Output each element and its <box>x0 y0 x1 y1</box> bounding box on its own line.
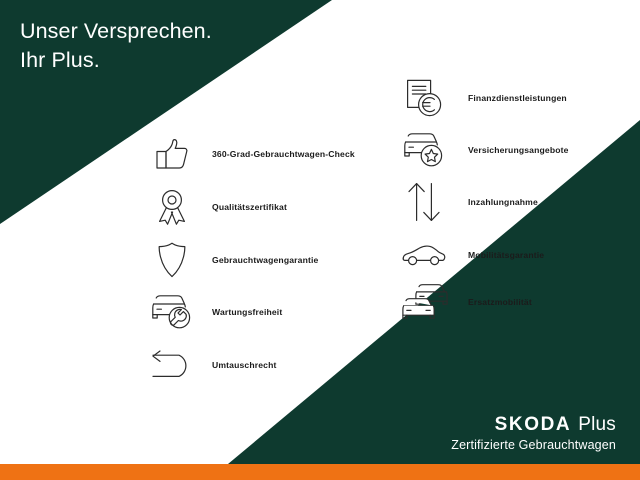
feature-label: Ersatzmobilität <box>468 297 532 307</box>
feature-label: Umtauschrecht <box>212 360 277 370</box>
feature-label: Inzahlungnahme <box>468 197 538 207</box>
feature-label: Qualitätszertifikat <box>212 202 287 212</box>
document-euro-icon <box>398 72 450 124</box>
brand-name-row: SKODA Plus <box>451 415 616 434</box>
two-cars-icon <box>398 276 450 328</box>
feature-item-versicherungsangebote: Versicherungsangebote <box>398 124 569 176</box>
promo-slide: Unser Versprechen. Ihr Plus. 360-Grad-Ge… <box>0 0 640 480</box>
feature-label: Gebrauchtwagengarantie <box>212 255 318 265</box>
award-rosette-icon <box>146 181 198 233</box>
feature-label: Mobilitätsgarantie <box>468 250 544 260</box>
feature-item-gebrauchtwagengarantie: Gebrauchtwagengarantie <box>146 234 318 286</box>
brand-tagline: Zertifizierte Gebrauchtwagen <box>451 438 616 452</box>
shield-icon <box>146 234 198 286</box>
brand-lockup: SKODA Plus Zertifizierte Gebrauchtwagen <box>451 415 616 452</box>
feature-item-360-grad-check: 360-Grad-Gebrauchtwagen-Check <box>146 128 355 180</box>
orange-footer-bar <box>0 464 640 480</box>
feature-item-inzahlungnahme: Inzahlungnahme <box>398 176 538 228</box>
car-wrench-icon <box>146 286 198 338</box>
feature-label: Finanzdienstleistungen <box>468 93 567 103</box>
feature-label: Versicherungsangebote <box>468 145 569 155</box>
feature-label: Wartungsfreiheit <box>212 307 282 317</box>
car-side-icon <box>398 229 450 281</box>
feature-item-ersatzmobilitaet: Ersatzmobilität <box>398 276 532 328</box>
feature-item-umtauschrecht: Umtauschrecht <box>146 339 277 391</box>
feature-item-qualitaetszertifikat: Qualitätszertifikat <box>146 181 287 233</box>
headline-line-2: Ihr Plus. <box>20 46 340 75</box>
page-title: Unser Versprechen. Ihr Plus. <box>20 17 340 75</box>
thumbs-up-icon <box>146 128 198 180</box>
headline-line-1: Unser Versprechen. <box>20 17 340 46</box>
feature-item-mobilitaetsgarantie: Mobilitätsgarantie <box>398 229 544 281</box>
car-star-icon <box>398 124 450 176</box>
feature-item-finanzdienstleistungen: Finanzdienstleistungen <box>398 72 567 124</box>
brand-plus-label: Plus <box>578 415 616 434</box>
feature-label: 360-Grad-Gebrauchtwagen-Check <box>212 149 355 159</box>
up-down-arrows-icon <box>398 176 450 228</box>
feature-item-wartungsfreiheit: Wartungsfreiheit <box>146 286 282 338</box>
u-turn-arrow-icon <box>146 339 198 391</box>
skoda-wordmark: SKODA <box>495 415 572 434</box>
